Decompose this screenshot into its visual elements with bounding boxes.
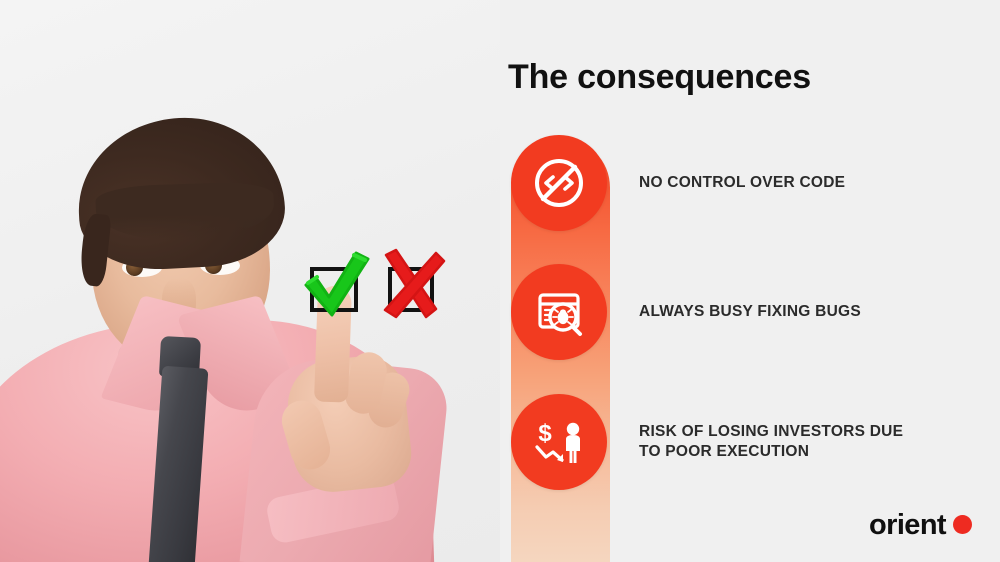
consequence-label-1: NO CONTROL OVER CODE <box>639 173 845 193</box>
checkbox-square-cross <box>388 267 434 312</box>
logo-text: orient <box>869 509 946 542</box>
consequence-label-3: RISK OF LOSING INVESTORS DUE TO POOR EXE… <box>639 422 919 463</box>
checkbox-square-check <box>310 267 358 312</box>
consequence-item-1[interactable]: NO CONTROL OVER CODE <box>511 135 981 231</box>
no-code-icon <box>511 135 607 231</box>
brand-logo[interactable]: orient <box>869 509 972 542</box>
consequence-item-2[interactable]: ALWAYS BUSY FIXING BUGS <box>511 264 981 360</box>
page-title: The consequences <box>508 58 928 97</box>
red-dot-icon <box>953 515 972 534</box>
investor-loss-icon: $ <box>511 394 607 490</box>
bug-search-icon <box>511 264 607 360</box>
consequence-item-3[interactable]: $ RISK OF LOSING INVESTORS DUE TO POOR E… <box>511 394 981 490</box>
slide-canvas: The consequences NO CONTROL OVER CODE <box>0 0 1000 562</box>
consequence-label-2: ALWAYS BUSY FIXING BUGS <box>639 302 861 322</box>
svg-text:$: $ <box>538 420 552 447</box>
